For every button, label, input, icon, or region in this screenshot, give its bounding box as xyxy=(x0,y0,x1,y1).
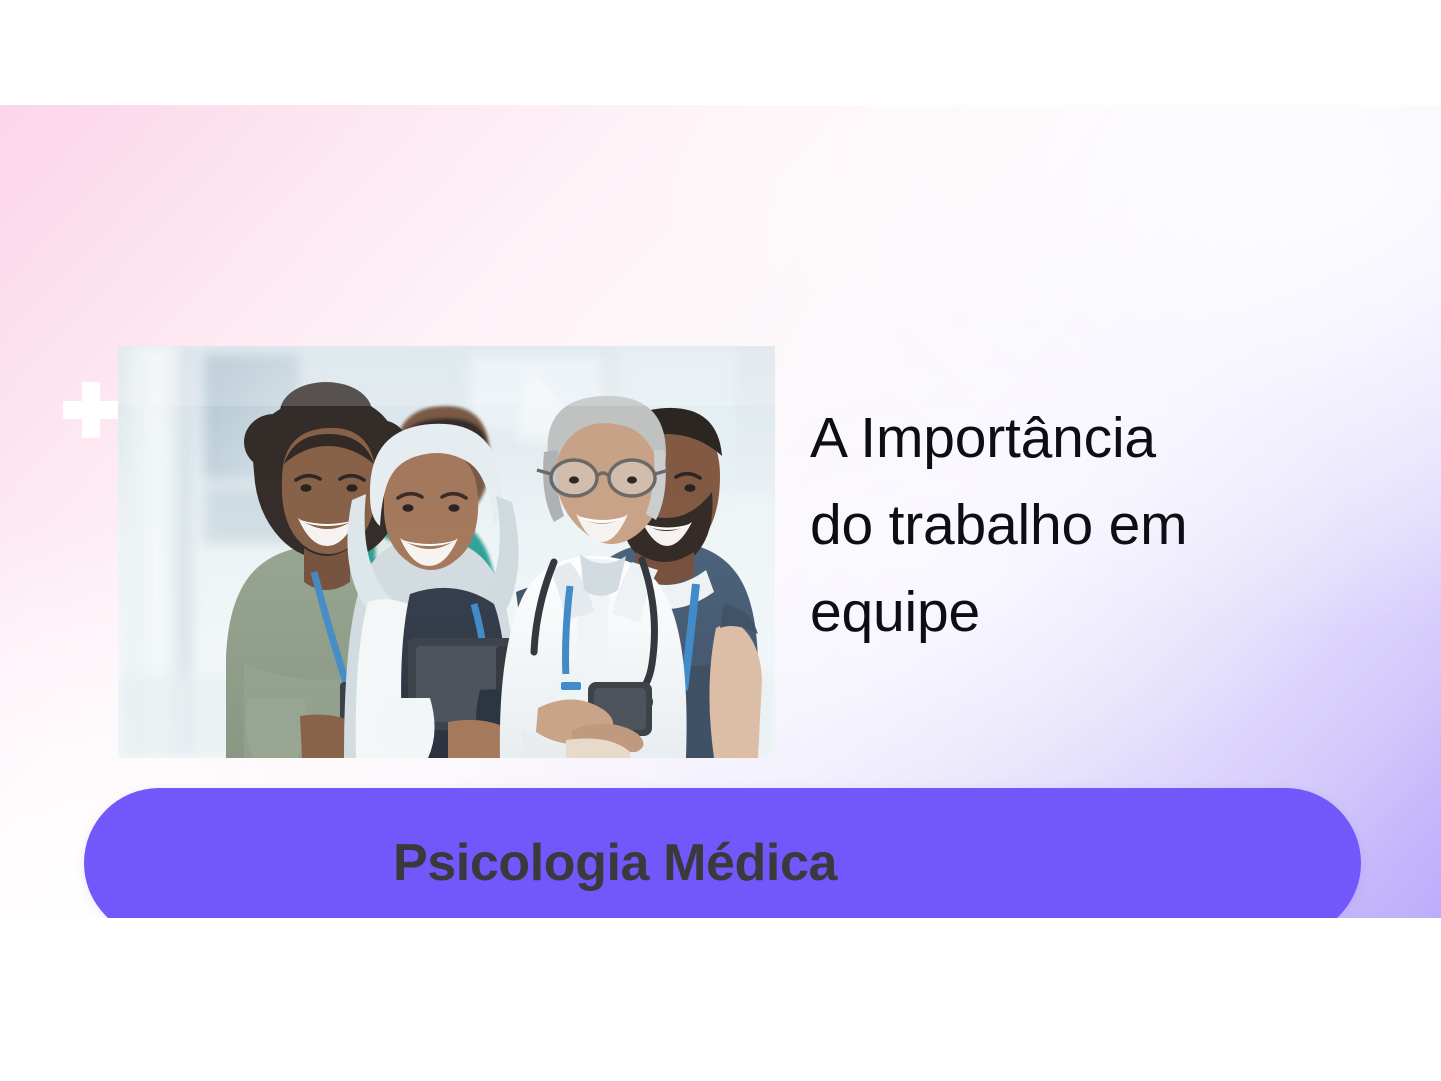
medical-plus-vertical-bar xyxy=(82,382,100,438)
team-photo-illustration xyxy=(118,346,775,758)
medical-plus-icon xyxy=(63,382,119,438)
subject-pill-button[interactable]: Psicologia Médica xyxy=(84,788,1361,918)
page-title: A Importância do trabalho em equipe xyxy=(810,395,1370,656)
slide-content-area: A Importância do trabalho em equipe Psic… xyxy=(0,105,1441,918)
team-photo xyxy=(118,346,775,758)
subject-pill-label: Psicologia Médica xyxy=(393,837,837,889)
slide-canvas: A Importância do trabalho em equipe Psic… xyxy=(0,0,1441,1081)
